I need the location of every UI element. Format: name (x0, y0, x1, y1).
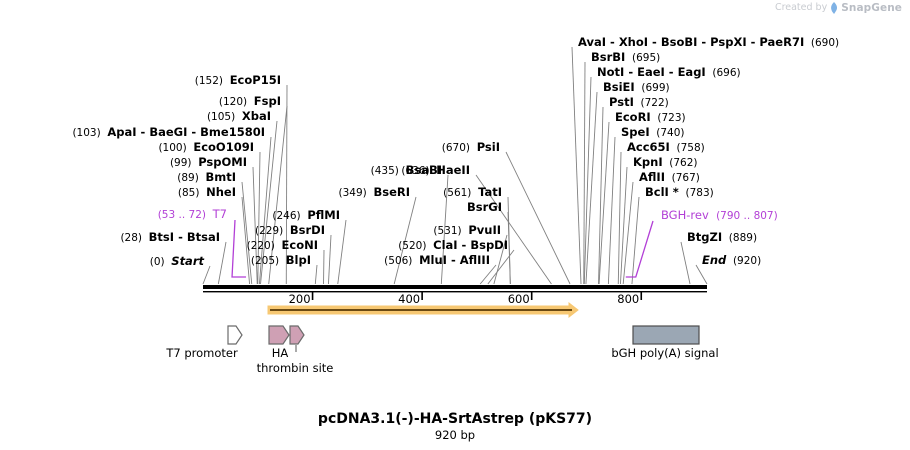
enzyme-position: (636) (401, 165, 436, 177)
enzyme-label-mlui: (506) MluI - AflIII (384, 254, 490, 267)
enzyme-position: (740) (650, 127, 685, 139)
enzyme-names: BsrBI (591, 51, 625, 64)
feature-shape-ha-tag (269, 326, 289, 344)
enzyme-name: PspOMI (198, 155, 247, 169)
enzyme-position: (99) (170, 157, 198, 169)
enzyme-label-bseri: (349) BseRI (339, 186, 410, 199)
enzyme-names: PspOMI (198, 156, 247, 169)
enzyme-name: EcoO109I (193, 140, 254, 154)
enzyme-names: BsrDI (290, 224, 325, 237)
enzyme-position: (889) (722, 232, 757, 244)
enzyme-name: HaeII (436, 163, 470, 177)
enzyme-names: XbaI (242, 110, 271, 123)
enzyme-label-aflii: AflII (767) (639, 171, 700, 184)
leader-blpi (315, 265, 317, 284)
enzyme-label-ecop15i: (152) EcoP15I (195, 74, 281, 87)
enzyme-name: AvaI (578, 35, 606, 49)
enzyme-position: (506) (384, 255, 419, 267)
enzyme-separator: - (648, 35, 661, 49)
leader-aflii (623, 182, 633, 284)
enzyme-position: (152) (195, 75, 230, 87)
ruler-tick (531, 292, 533, 300)
enzyme-names: BsiEI (603, 81, 635, 94)
enzyme-position: (696) (706, 67, 741, 79)
enzyme-name: BmtI (205, 170, 236, 184)
ruler-tick (421, 292, 423, 300)
enzyme-name: ClaI (433, 238, 457, 252)
enzyme-separator: - (187, 125, 200, 139)
ruler-bar (203, 285, 707, 289)
enzyme-names: PvuII (468, 224, 501, 237)
enzyme-name: BaeGI (149, 125, 187, 139)
enzyme-label-spei: SpeI (740) (621, 126, 685, 139)
enzyme-name: TatI (478, 185, 502, 199)
enzyme-names: PstI (609, 96, 634, 109)
enzyme-name: BtsaI (187, 230, 220, 244)
enzyme-names: BlpI (286, 254, 311, 267)
enzyme-names: SpeI (621, 126, 650, 139)
enzyme-separator: - (606, 35, 619, 49)
enzyme-label-bsrgi: BsrGI (467, 201, 502, 214)
enzyme-label-econi: (220) EcoNI (247, 239, 318, 252)
primer-label-bgh-rev: BGH-rev (790 .. 807) (661, 209, 778, 222)
enzyme-position: (120) (219, 96, 254, 108)
enzyme-separator: - (174, 230, 187, 244)
enzyme-label-btgzi: BtgZI (889) (687, 231, 757, 244)
enzyme-name: EcoP15I (230, 73, 281, 87)
page-title: pcDNA3.1(-)-HA-SrtAstrep (pKS77) (0, 411, 910, 427)
enzyme-name: EagI (678, 65, 706, 79)
enzyme-label-avai: AvaI - XhoI - BsoBI - PspXI - PaeR7I (69… (578, 36, 839, 49)
enzyme-name: PstI (609, 95, 634, 109)
enzyme-names: NheI (206, 186, 236, 199)
enzyme-position: (758) (670, 142, 705, 154)
feature-shapes (228, 303, 699, 352)
enzyme-label-bmti: (89) BmtI (177, 171, 236, 184)
feature-caption-t7-promoter: T7 promoter (166, 346, 237, 360)
feature-shape-bgh-polya (633, 326, 699, 344)
ruler-tick-label-400: 400 (398, 292, 420, 306)
enzyme-position: (89) (177, 172, 205, 184)
enzyme-names: Acc65I (627, 141, 670, 154)
enzyme-label-end: End (920) (702, 254, 761, 267)
leader-end (696, 265, 707, 284)
enzyme-names: BtsI - BtsaI (149, 231, 220, 244)
enzyme-label-bcli: BclI * (783) (645, 186, 714, 199)
enzyme-names: EcoNI (282, 239, 318, 252)
enzyme-position: (435) (371, 165, 406, 177)
enzyme-label-fspi: (120) FspI (219, 95, 281, 108)
enzyme-label-tati: (561) TatI (443, 186, 502, 199)
enzyme-position: (246) (272, 210, 307, 222)
enzyme-position: (762) (663, 157, 698, 169)
enzyme-label-xbai: (105) XbaI (207, 110, 271, 123)
enzyme-names: End (702, 254, 726, 267)
enzyme-names: BtgZI (687, 231, 722, 244)
leader-bsrdi (328, 235, 331, 284)
enzyme-separator: - (747, 35, 760, 49)
enzyme-label-ecori: EcoRI (723) (615, 111, 686, 124)
enzyme-position: (695) (625, 52, 660, 64)
ruler-tick-label-600: 600 (508, 292, 530, 306)
enzyme-position: (100) (158, 142, 193, 154)
enzyme-name: BsiEI (603, 80, 635, 94)
leader-bgh-rev (626, 221, 653, 277)
enzyme-position: (520) (398, 240, 433, 252)
enzyme-position: (723) (651, 112, 686, 124)
enzyme-name: BseRI (373, 185, 410, 199)
leader-bsrbi (584, 62, 585, 284)
enzyme-label-pspomi: (99) PspOMI (170, 156, 247, 169)
enzyme-position: (722) (634, 97, 669, 109)
enzyme-names: BsrGI (467, 201, 502, 214)
enzyme-position: (220) (247, 240, 282, 252)
enzyme-position: (0) (150, 256, 172, 268)
enzyme-position: (205) (251, 255, 286, 267)
enzyme-name: BsrGI (467, 200, 502, 214)
enzyme-name: Bme1580I (200, 125, 265, 139)
page-subtitle: 920 bp (0, 428, 910, 442)
enzyme-names: EcoRI (615, 111, 651, 124)
enzyme-label-ecoo109i: (100) EcoO109I (158, 141, 254, 154)
enzyme-name: EaeI (637, 65, 665, 79)
enzyme-name: BspDI (470, 238, 508, 252)
enzyme-name: BtsI (149, 230, 174, 244)
enzyme-name: BsrDI (290, 223, 325, 237)
enzyme-name: AflIII (460, 253, 490, 267)
enzyme-position: (561) (443, 187, 478, 199)
primer-name: BGH-rev (661, 208, 716, 222)
plasmid-map: Created by SnapGene (152) EcoP15I(120) F… (0, 0, 910, 450)
enzyme-position: (103) (72, 127, 107, 139)
leader-kpni (620, 167, 627, 284)
enzyme-label-kpni: KpnI (762) (633, 156, 698, 169)
enzyme-label-bsrdi: (229) BsrDI (255, 224, 325, 237)
feature-caption-thrombin-site: thrombin site (257, 361, 334, 375)
enzyme-names: ClaI - BspDI (433, 239, 508, 252)
feature-caption-ha-tag: HA (272, 346, 289, 360)
enzyme-position: (28) (120, 232, 148, 244)
enzyme-name: PspXI (710, 35, 746, 49)
enzyme-position: (690) (804, 37, 839, 49)
enzyme-name: AflII (639, 170, 665, 184)
primer-range: (790 .. 807) (716, 210, 778, 222)
enzyme-position: (670) (442, 142, 477, 154)
enzyme-name: PsiI (477, 140, 500, 154)
ruler-tick-label-200: 200 (289, 292, 311, 306)
enzyme-names: TatI (478, 186, 502, 199)
ruler-tick (640, 292, 642, 300)
enzyme-label-pflmi: (246) PflMI (272, 209, 340, 222)
enzyme-label-noti: NotI - EaeI - EagI (696) (597, 66, 741, 79)
enzyme-names: Start (171, 255, 204, 268)
leader-spei (608, 137, 615, 284)
enzyme-separator: - (665, 65, 678, 79)
enzyme-names: HaeII (436, 164, 470, 177)
enzyme-name: Start (171, 254, 204, 268)
enzyme-label-apai: (103) ApaI - BaeGI - Bme1580I (72, 126, 265, 139)
enzyme-names: BclI * (645, 186, 679, 199)
enzyme-names: EcoP15I (230, 74, 281, 87)
enzyme-name: EcoNI (282, 238, 318, 252)
primer-name: T7 (213, 207, 227, 221)
enzyme-position: (85) (178, 187, 206, 199)
enzyme-names: FspI (254, 95, 281, 108)
enzyme-separator: - (458, 238, 471, 252)
enzyme-names: AvaI - XhoI - BsoBI - PspXI - PaeR7I (578, 36, 804, 49)
enzyme-names: KpnI (633, 156, 663, 169)
enzyme-separator: - (624, 65, 637, 79)
enzyme-label-acc65i: Acc65I (758) (627, 141, 705, 154)
enzyme-separator: - (447, 253, 460, 267)
leader-acc65i (618, 152, 621, 284)
leader-mlui (480, 265, 496, 284)
enzyme-position: (105) (207, 111, 242, 123)
enzyme-label-start: (0) Start (150, 255, 204, 268)
enzyme-names: NotI - EaeI - EagI (597, 66, 706, 79)
ruler-tick (312, 292, 314, 300)
primer-label-t7: (53 .. 72) T7 (158, 208, 227, 221)
leader-btsi (218, 242, 226, 284)
enzyme-name: PflMI (307, 208, 340, 222)
enzyme-name: FspI (254, 94, 281, 108)
enzyme-name: PaeR7I (759, 35, 804, 49)
leader-avai (572, 47, 581, 284)
enzyme-names: PsiI (477, 141, 500, 154)
leader-t7 (232, 220, 246, 277)
enzyme-name: XhoI (619, 35, 648, 49)
enzyme-separator: - (697, 35, 710, 49)
enzyme-names: BseRI (373, 186, 410, 199)
leader-start (203, 266, 210, 284)
enzyme-label-bsrbi: BsrBI (695) (591, 51, 660, 64)
enzyme-position: (531) (433, 225, 468, 237)
enzyme-name: End (702, 253, 726, 267)
enzyme-label-btsi: (28) BtsI - BtsaI (120, 231, 220, 244)
enzyme-name: Acc65I (627, 140, 670, 154)
enzyme-position: (767) (665, 172, 700, 184)
enzyme-names: PflMI (307, 209, 340, 222)
enzyme-name: BtgZI (687, 230, 722, 244)
enzyme-names: MluI - AflIII (419, 254, 490, 267)
enzyme-label-psii: (670) PsiI (442, 141, 500, 154)
enzyme-names: BmtI (205, 171, 236, 184)
enzyme-name: PvuII (468, 223, 501, 237)
enzyme-position: (783) (679, 187, 714, 199)
enzyme-label-haeii: (636) HaeII (401, 164, 470, 177)
enzyme-name: MluI (419, 253, 447, 267)
enzyme-names: ApaI - BaeGI - Bme1580I (107, 126, 265, 139)
enzyme-name: BlpI (286, 253, 311, 267)
primer-range: (53 .. 72) (158, 209, 213, 221)
enzyme-position: (229) (255, 225, 290, 237)
enzyme-position: (920) (726, 255, 761, 267)
enzyme-label-blpi: (205) BlpI (251, 254, 311, 267)
feature-shape-thrombin-site (290, 326, 304, 344)
enzyme-name: KpnI (633, 155, 663, 169)
enzyme-name: NheI (206, 185, 236, 199)
enzyme-position: (349) (339, 187, 374, 199)
feature-caption-bgh-polya: bGH poly(A) signal (611, 346, 718, 360)
enzyme-name: NotI (597, 65, 624, 79)
ruler-tick-label-800: 800 (617, 292, 639, 306)
leader-btgzi (681, 242, 690, 284)
feature-shape-t7-promoter (228, 326, 242, 344)
enzyme-name: BsoBI (661, 35, 698, 49)
enzyme-name: BsrBI (591, 50, 625, 64)
enzyme-label-pvuii: (531) PvuII (433, 224, 501, 237)
enzyme-name: BclI * (645, 185, 679, 199)
enzyme-separator: - (137, 125, 150, 139)
leader-pflmi (338, 220, 346, 284)
enzyme-name: EcoRI (615, 110, 651, 124)
enzyme-label-nhei: (85) NheI (178, 186, 236, 199)
enzyme-label-psti: PstI (722) (609, 96, 669, 109)
enzyme-label-clai: (520) ClaI - BspDI (398, 239, 508, 252)
leader-bmti (242, 182, 252, 284)
enzyme-names: AflII (639, 171, 665, 184)
enzyme-names: EcoO109I (193, 141, 254, 154)
enzyme-label-bsiei: BsiEI (699) (603, 81, 670, 94)
enzyme-name: SpeI (621, 125, 650, 139)
enzyme-name: XbaI (242, 109, 271, 123)
enzyme-name: ApaI (107, 125, 136, 139)
enzyme-position: (699) (635, 82, 670, 94)
